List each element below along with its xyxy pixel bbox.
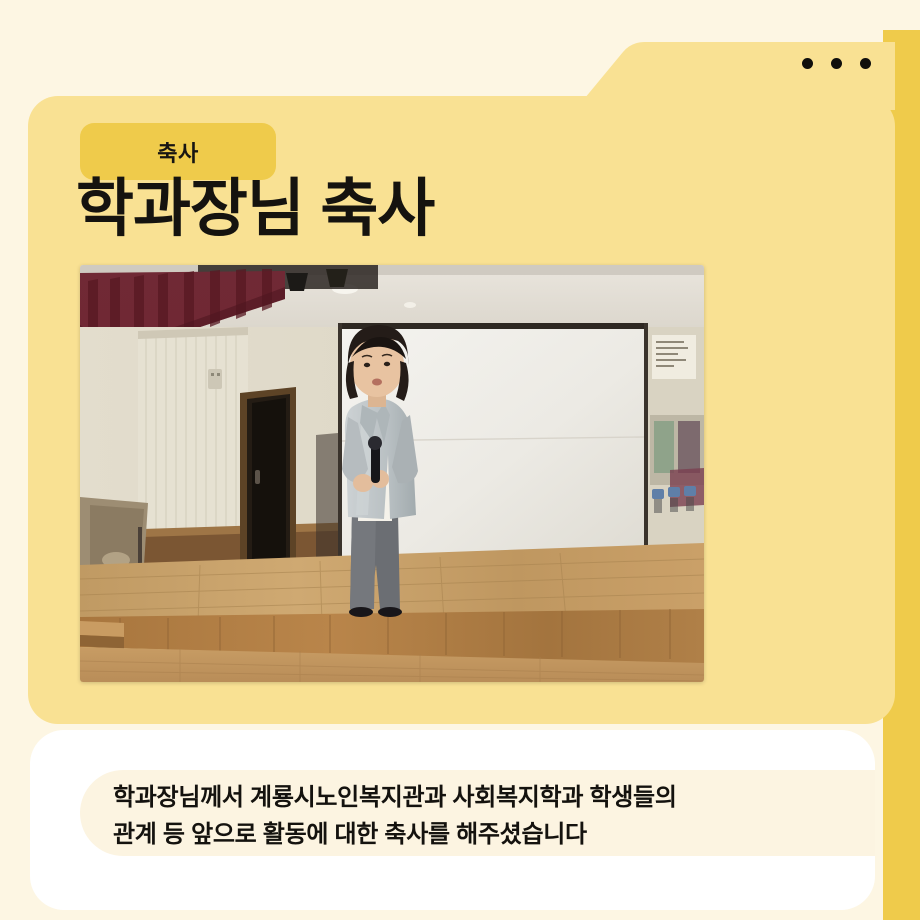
- section-badge: 축사: [80, 123, 276, 180]
- dot-2-icon: [831, 58, 842, 69]
- caption-line-2: 관계 등 앞으로 활동에 대한 축사를 해주셨습니다: [113, 816, 843, 853]
- dot-1-icon: [802, 58, 813, 69]
- caption-text: 학과장님께서 계룡시노인복지관과 사회복지학과 학생들의 관계 등 앞으로 활동…: [113, 779, 843, 853]
- event-photo: [80, 265, 704, 682]
- window-dots: [802, 58, 871, 69]
- dot-3-icon: [860, 58, 871, 69]
- card-root: 축사 학과장님 축사: [0, 0, 920, 920]
- section-badge-label: 축사: [157, 136, 198, 168]
- caption-line-1: 학과장님께서 계룡시노인복지관과 사회복지학과 학생들의: [113, 779, 843, 816]
- page-title: 학과장님 축사: [76, 178, 434, 241]
